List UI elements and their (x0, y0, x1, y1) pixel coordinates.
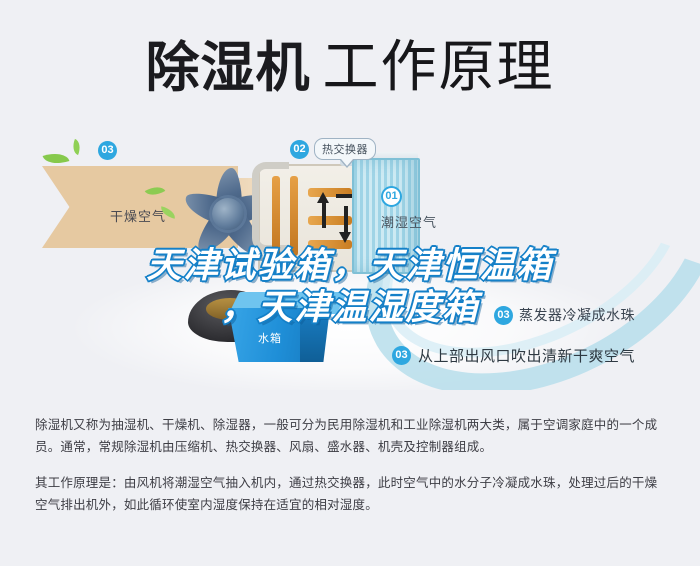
article-body: 除湿机又称为抽湿机、干燥机、除湿器，一般可分为民用除湿机和工业除湿机两大类，属于… (35, 414, 667, 516)
humid-air-label: 潮湿空气 (381, 212, 437, 231)
water-tank-label: 水箱 (258, 330, 282, 346)
copper-coil (290, 176, 298, 256)
step-badge-01-humid-air: 01 (381, 186, 402, 207)
page-title: 除湿机工作原理 (0, 22, 700, 103)
step-badge-03-dry-air: 03 (98, 140, 117, 160)
callout-evaporator-condensation: 03 蒸发器冷凝成水珠 (494, 305, 635, 325)
badge-number: 03 (392, 346, 411, 365)
badge-number: 03 (98, 141, 117, 160)
callout-text: 蒸发器冷凝成水珠 (519, 305, 635, 325)
leaf-icon (70, 139, 84, 155)
dry-air-label: 干燥空气 (110, 206, 166, 225)
fan-hub (212, 198, 244, 230)
flow-arrow-down-icon (339, 232, 351, 243)
page-title-primary: 除湿机 (146, 36, 311, 99)
paragraph-principle: 其工作原理是：由风机将潮湿空气抽入机内，通过热交换器，此时空气中的水分子冷凝成水… (35, 472, 667, 516)
flow-arrow-stem (344, 206, 348, 232)
badge-number: 02 (290, 140, 309, 159)
badge-number: 03 (494, 306, 513, 325)
leaf-icon (43, 149, 70, 169)
callout-text: 从上部出风口吹出清新干爽空气 (418, 345, 635, 366)
dehumidifier-diagram: 干燥空气 03 (0, 118, 700, 390)
page-root: 除湿机工作原理 干燥空气 03 (0, 0, 700, 566)
copper-coil (272, 176, 280, 256)
callout-air-outlet: 03 从上部出风口吹出清新干爽空气 (392, 345, 635, 366)
badge-number: 01 (381, 186, 402, 207)
refrigerant-pipe (252, 162, 289, 252)
flow-arrow-up-icon (317, 192, 329, 203)
step-callout-02: 02 热交换器 (290, 138, 376, 160)
flow-arrow-stem (322, 202, 326, 228)
heat-exchanger-label: 热交换器 (314, 138, 376, 160)
page-title-secondary: 工作原理 (323, 35, 555, 100)
paragraph-definition: 除湿机又称为抽湿机、干燥机、除湿器，一般可分为民用除湿机和工业除湿机两大类，属于… (35, 414, 667, 458)
